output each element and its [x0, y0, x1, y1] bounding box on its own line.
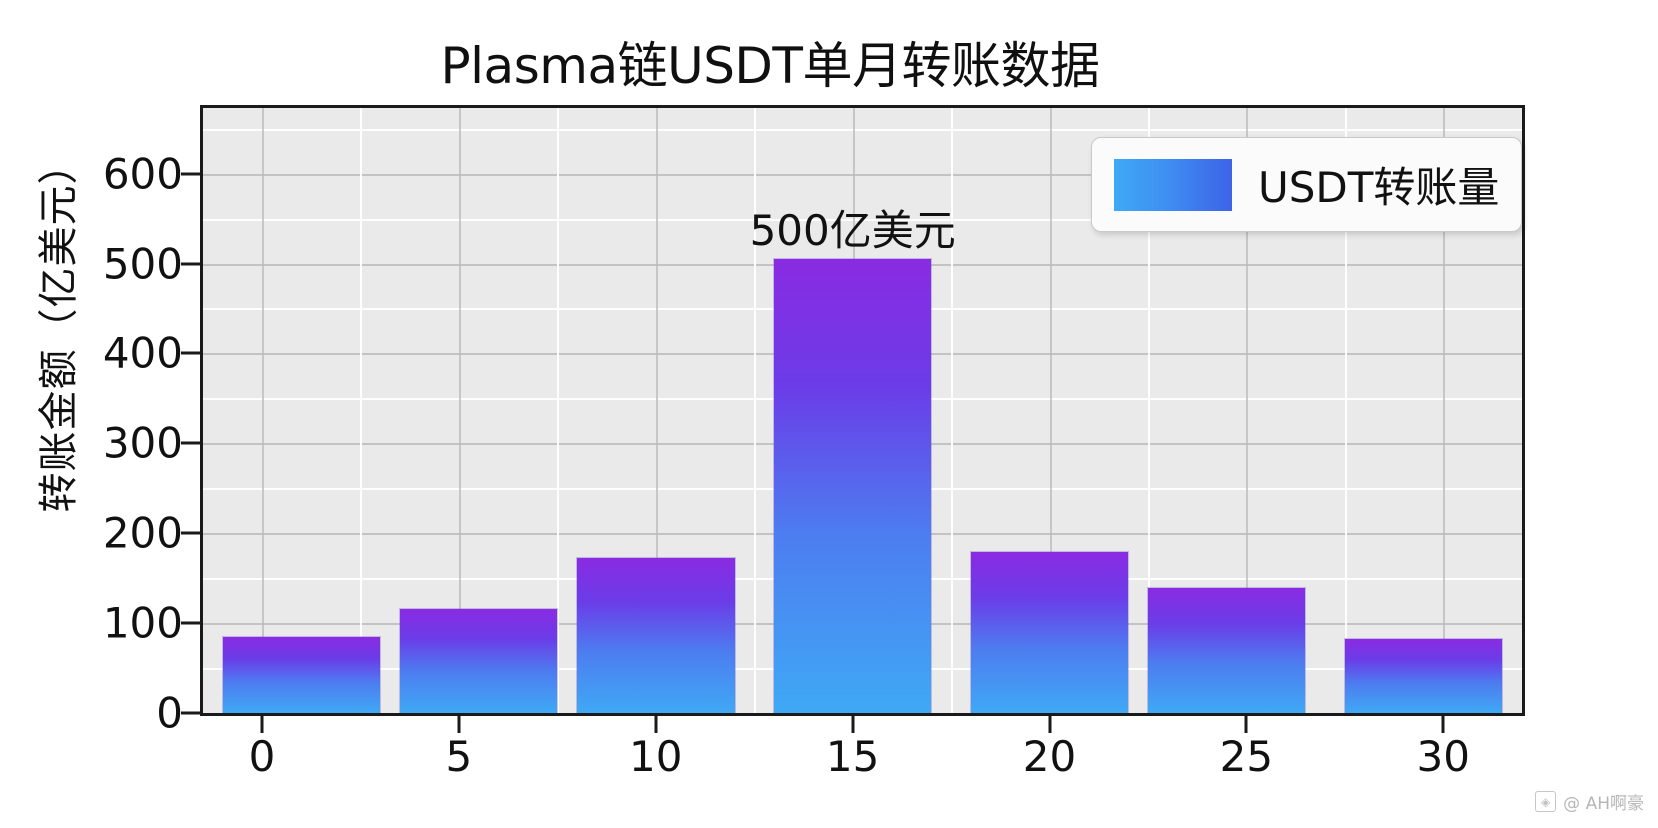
- chart-figure: Plasma链USDT单月转账数据 转账金额（亿美元） 010020030040…: [0, 0, 1658, 828]
- y-tick-label: 500: [103, 239, 183, 288]
- x-tick-label: 0: [249, 732, 276, 781]
- y-tick-mark: [181, 622, 200, 625]
- x-tick-mark: [654, 716, 657, 733]
- bar[interactable]: [971, 552, 1128, 713]
- x-tick-label: 25: [1220, 732, 1273, 781]
- bar[interactable]: [577, 558, 734, 713]
- gridline-vertical-minor: [360, 108, 362, 713]
- y-tick-mark: [181, 712, 200, 715]
- bar[interactable]: [1345, 639, 1502, 713]
- y-axis-label-text: 转账金额（亿美元）: [26, 144, 84, 513]
- y-tick-mark: [181, 352, 200, 355]
- x-tick-label: 30: [1417, 732, 1470, 781]
- watermark-text: @ AH啊豪: [1563, 789, 1644, 814]
- bar[interactable]: [1148, 588, 1305, 713]
- y-tick-label: 300: [103, 419, 183, 468]
- y-axis-label: 转账金额（亿美元）: [27, 18, 83, 638]
- gridline-vertical: [262, 108, 264, 713]
- watermark: ◈ @ AH啊豪: [1535, 789, 1644, 814]
- y-tick-label: 200: [103, 509, 183, 558]
- page-title: Plasma链USDT单月转账数据: [0, 26, 1540, 98]
- bar[interactable]: [223, 637, 380, 713]
- y-tick-label: 100: [103, 599, 183, 648]
- legend-label: USDT转账量: [1258, 154, 1499, 215]
- gridline-horizontal-minor: [203, 129, 1522, 131]
- watermark-logo-icon: ◈: [1535, 791, 1556, 812]
- x-tick-mark: [1048, 716, 1051, 733]
- y-tick-mark: [181, 442, 200, 445]
- chart-legend[interactable]: USDT转账量: [1091, 137, 1522, 232]
- gridline-vertical-minor: [557, 108, 559, 713]
- x-tick-label: 20: [1023, 732, 1076, 781]
- x-tick-mark: [457, 716, 460, 733]
- x-tick-label: 15: [826, 732, 879, 781]
- x-tick-mark: [1245, 716, 1248, 733]
- x-tick-mark: [261, 716, 264, 733]
- legend-swatch-icon: [1114, 159, 1232, 211]
- x-tick-label: 10: [629, 732, 682, 781]
- bar[interactable]: [774, 259, 931, 713]
- y-tick-label: 0: [156, 689, 183, 738]
- y-tick-mark: [181, 532, 200, 535]
- y-tick-mark: [181, 172, 200, 175]
- y-tick-mark: [181, 262, 200, 265]
- y-tick-label: 400: [103, 329, 183, 378]
- x-tick-label: 5: [446, 732, 473, 781]
- bar-value-annotation: 500亿美元: [653, 197, 1053, 258]
- x-tick-mark: [851, 716, 854, 733]
- bar[interactable]: [400, 609, 557, 713]
- y-tick-label: 600: [103, 149, 183, 198]
- x-tick-mark: [1442, 716, 1445, 733]
